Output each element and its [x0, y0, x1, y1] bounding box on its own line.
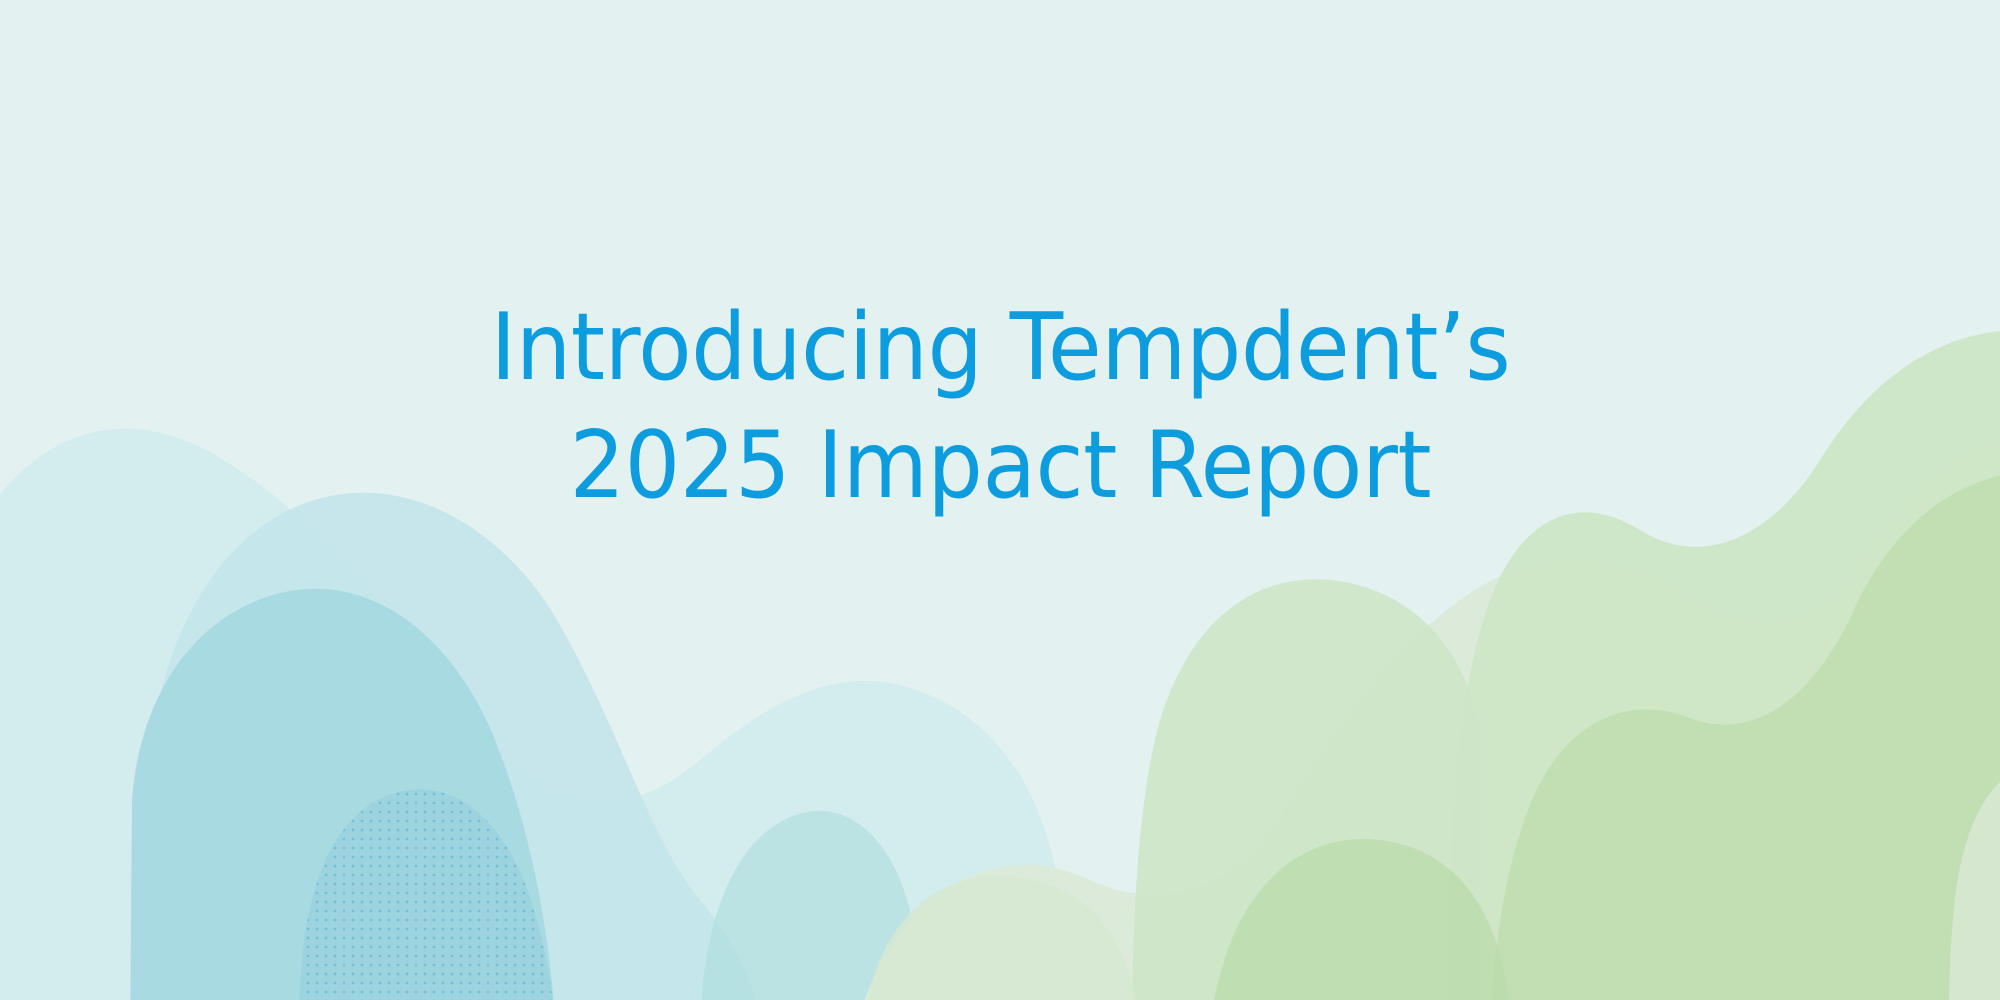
decorative-blob-artwork	[0, 0, 2000, 1000]
impact-report-hero-banner: Introducing Tempdent’s 2025 Impact Repor…	[0, 0, 2000, 1000]
